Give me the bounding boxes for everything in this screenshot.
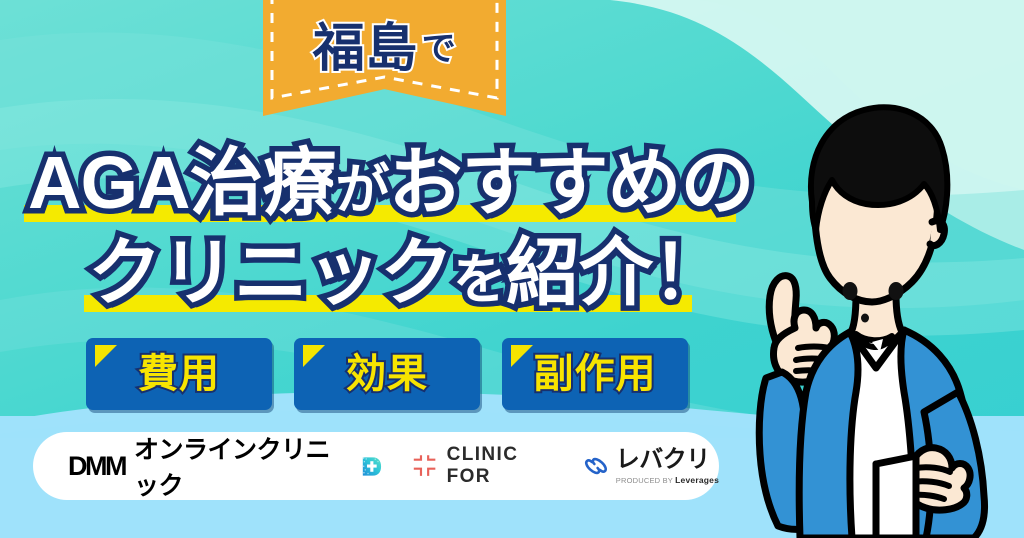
tag-side-effects-label: 副作用: [534, 354, 657, 394]
levacli-tagline-brand: Leverages: [675, 475, 719, 485]
levacli-text-stack: レバクリ PRODUCED BY Leverages: [616, 447, 719, 484]
levacli-wordmark: レバクリ: [616, 447, 710, 472]
tag-cost[interactable]: 費用: [86, 338, 272, 410]
levacli-tagline-prefix: PRODUCED BY: [616, 476, 675, 485]
headline-line-2-text: クリニックを紹介！: [88, 236, 725, 310]
ribbon-main-text: 福島: [313, 23, 418, 75]
dmm-mosaic-d-icon: [361, 454, 383, 479]
clinic-for-wordmark: CLINIC FOR: [447, 444, 557, 488]
headline-block: AGA治療がおすすめの クリニックを紹介！: [0, 136, 760, 320]
logo-clinic-for[interactable]: CLINIC FOR: [412, 444, 556, 488]
clinic-for-cross-icon: [412, 452, 437, 480]
partner-logo-bar: DMM オンラインクリニック: [33, 432, 719, 500]
headline-line-2: クリニックを紹介！: [0, 226, 760, 320]
logo-dmm-online-clinic[interactable]: DMM オンラインクリニック: [68, 430, 382, 502]
ribbon-suffix-text: で: [422, 32, 457, 66]
tag-list: 費用 効果 副作用: [86, 338, 688, 410]
headline-seg-clinic: クリニック: [88, 231, 453, 314]
ribbon-label: 福島で: [263, 10, 506, 88]
tag-side-effects[interactable]: 副作用: [502, 338, 688, 410]
pointing-person-illustration: [700, 96, 1024, 538]
logo-levacli[interactable]: レバクリ PRODUCED BY Leverages: [583, 447, 719, 484]
headline-seg-wo: を: [453, 250, 506, 310]
headline-seg-shokai: 紹介！: [506, 231, 725, 314]
tag-effect[interactable]: 効果: [294, 338, 480, 410]
levacli-link-icon: [583, 453, 609, 479]
headline-line-1: AGA治療がおすすめの: [0, 136, 760, 230]
headline-seg-osusume: おすすめの: [388, 141, 753, 224]
headline-line-1-text: AGA治療がおすすめの: [28, 146, 753, 220]
headline-seg-ga: が: [335, 160, 388, 220]
dmm-japanese-label: オンラインクリニック: [134, 430, 349, 502]
headline-seg-aga: AGA治療: [28, 141, 335, 224]
tag-effect-label: 効果: [346, 354, 428, 394]
banner-root: 福島で AGA治療がおすすめの クリニックを紹介！ 費用 効果 副作用 DMM …: [0, 0, 1024, 538]
tag-cost-label: 費用: [138, 354, 220, 394]
dmm-wordmark: DMM: [68, 451, 125, 482]
levacli-tagline: PRODUCED BY Leverages: [616, 475, 719, 485]
